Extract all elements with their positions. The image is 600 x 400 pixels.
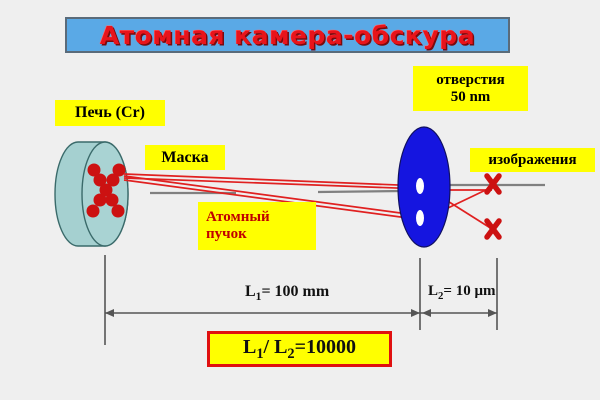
dim-arrowhead-l1-right <box>411 309 420 317</box>
ratio-den-subscript: 2 <box>287 346 294 362</box>
atom <box>106 194 119 207</box>
dimension-label-l1: L1= 100 mm <box>245 283 329 303</box>
label-beam-line2: пучок <box>206 226 247 243</box>
label-images-text: изображения <box>488 152 576 169</box>
optical-axis-segment-middle <box>318 191 404 192</box>
label-images: изображения <box>470 148 595 172</box>
ratio-slash: / <box>264 336 275 358</box>
label-atomic-beam: Атомный пучок <box>198 202 316 250</box>
l1-value: = 100 mm <box>261 283 329 300</box>
ratio-formula-text: L1/ L2=10000 <box>243 336 356 363</box>
ratio-numerator: L <box>243 336 256 358</box>
dim-arrowhead-l2-right <box>488 309 497 317</box>
pinhole-upper <box>416 178 424 194</box>
l2-value: = 10 μm <box>443 283 495 299</box>
label-holes-line2: 50 nm <box>451 89 491 106</box>
atom <box>107 174 120 187</box>
furnace-cylinder <box>55 142 128 246</box>
mask-disc <box>398 127 450 247</box>
diagram-canvas: Атомная камера-обскура <box>0 0 600 400</box>
ratio-formula-box: L1/ L2=10000 <box>207 331 392 367</box>
atom <box>94 194 107 207</box>
label-furnace: Печь (Cr) <box>55 100 165 126</box>
image-marker-lower <box>487 221 499 237</box>
dim-arrowhead-l1-left <box>105 309 114 317</box>
label-holes-line1: отверстия <box>436 72 505 89</box>
dim-arrowhead-l2-left <box>422 309 431 317</box>
ratio-num-subscript: 1 <box>256 346 263 362</box>
label-furnace-text: Печь (Cr) <box>75 104 145 122</box>
atom <box>112 205 125 218</box>
pinhole-mask <box>398 127 450 247</box>
ratio-result: =10000 <box>295 336 356 358</box>
l1-symbol: L <box>245 283 256 300</box>
pinhole-lower <box>416 210 424 226</box>
ratio-denominator: L <box>274 336 287 358</box>
label-beam-line1: Атомный <box>206 209 270 226</box>
l2-symbol: L <box>428 283 438 299</box>
label-holes: отверстия 50 nm <box>413 66 528 111</box>
atom <box>87 205 100 218</box>
projected-images <box>487 176 499 237</box>
label-mask-text: Маска <box>161 149 208 167</box>
label-mask: Маска <box>145 145 225 170</box>
dimension-label-l2: L2= 10 μm <box>428 283 495 302</box>
